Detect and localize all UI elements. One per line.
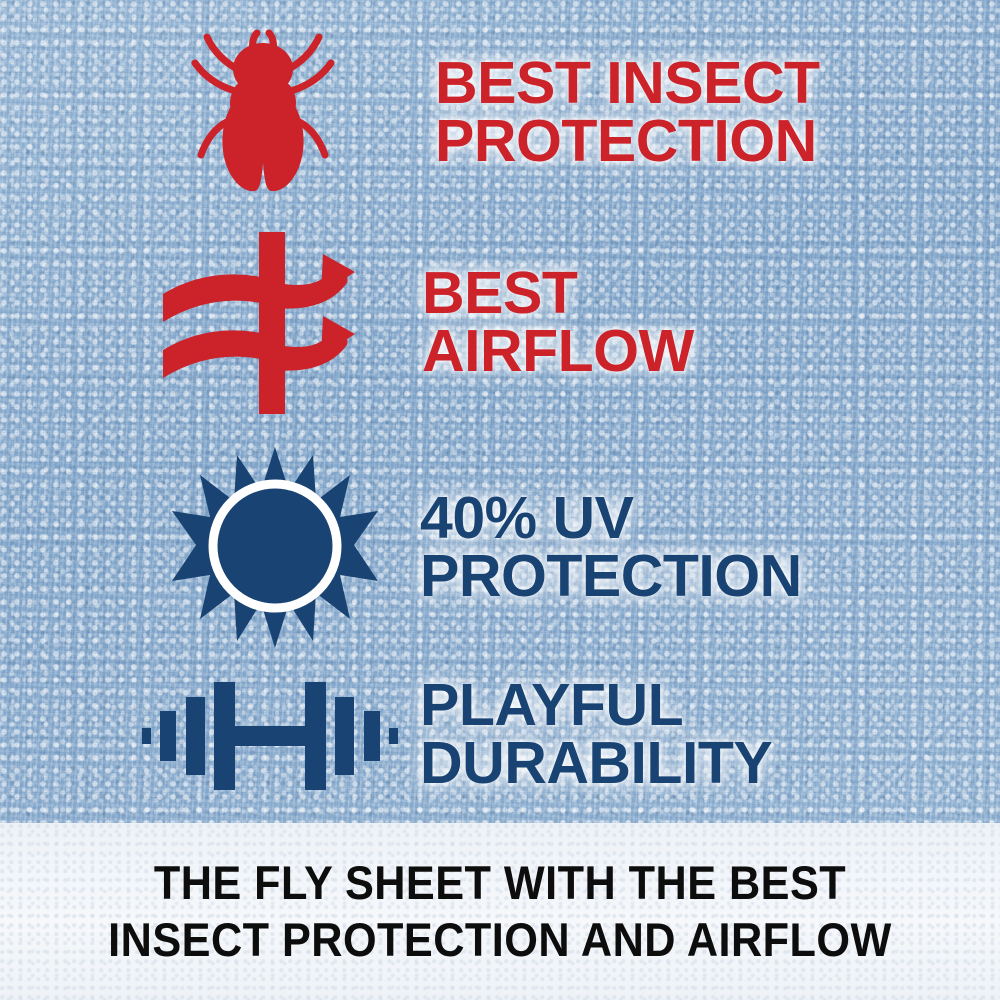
caption-line-1: THE FLY SHEET WITH THE BEST [40,854,960,911]
feature-label-airflow: BEST AIRFLOW [422,265,694,381]
dumbbell-icon-cell [130,660,410,810]
dumbbell-icon [140,670,400,800]
sun-uv-icon [170,445,380,650]
caption-line-2: INSECT PROTECTION AND AIRFLOW [40,911,960,968]
feature-label-durability: PLAYFUL DURABILITY [420,677,772,793]
feature-label-uv-protection: 40% UV PROTECTION [420,490,802,606]
caption-block: THE FLY SHEET WITH THE BEST INSECT PROTE… [40,854,960,968]
airflow-icon-cell [150,228,390,418]
feature-row-durability: PLAYFUL DURABILITY [130,660,930,810]
feature-row-uv-protection: 40% UV PROTECTION [160,440,960,655]
fly-icon [183,23,343,203]
fly-icon-cell [175,20,350,205]
feature-row-airflow: BEST AIRFLOW [150,228,950,418]
airflow-icon [155,228,385,418]
infographic-canvas: BEST INSECT PROTECTION BEST AIRFLOW [0,0,1000,1000]
sun-uv-icon-cell [160,440,390,655]
caption-band: THE FLY SHEET WITH THE BEST INSECT PROTE… [0,823,1000,1000]
feature-row-insect-protection: BEST INSECT PROTECTION [175,20,975,205]
feature-label-insect-protection: BEST INSECT PROTECTION [435,55,820,171]
